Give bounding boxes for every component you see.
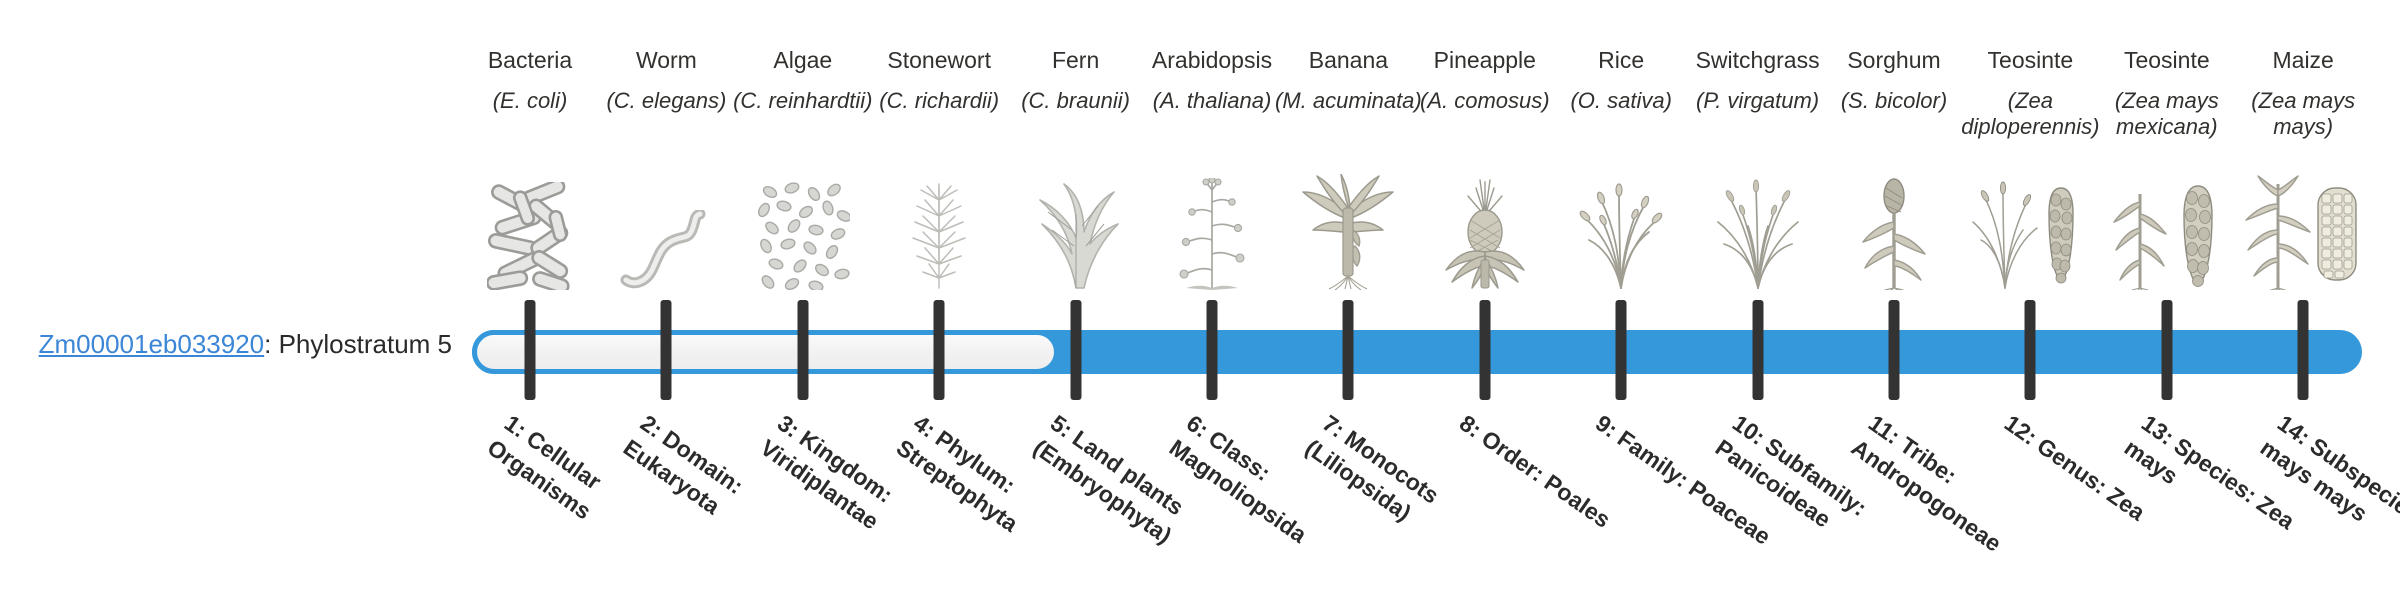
phylostratum-tick <box>1070 300 1081 400</box>
algae-icon <box>756 182 850 290</box>
phylostratum-tick <box>1616 300 1627 400</box>
bacteria-icon <box>455 168 605 290</box>
species-column: Maize(Zea mays mays) <box>2228 46 2378 140</box>
species-scientific-name: (C. richardii) <box>864 88 1014 114</box>
maize-icon <box>2242 174 2364 290</box>
fern-icon <box>1001 168 1151 290</box>
species-scientific-name: (S. bicolor) <box>1819 88 1969 114</box>
teosinte-mexicana-icon <box>2108 174 2226 290</box>
species-column: Bacteria(E. coli) <box>455 46 605 114</box>
species-column: Worm(C. elegans) <box>591 46 741 114</box>
species-common-name: Bacteria <box>455 46 605 74</box>
species-scientific-name: (C. reinhardtii) <box>728 88 878 114</box>
phylostratum-tick <box>1479 300 1490 400</box>
rank-name: Cellular Organisms <box>483 425 606 524</box>
phylostratum-value: Phylostratum 5 <box>279 329 452 359</box>
species-common-name: Stonewort <box>864 46 1014 74</box>
switchgrass-icon <box>1683 168 1833 290</box>
teosinte-diplo-icon <box>1955 168 2105 290</box>
rank-name: Order: Poales <box>1477 425 1615 533</box>
species-column: Fern(C. braunii) <box>1001 46 1151 114</box>
species-scientific-name: (C. braunii) <box>1001 88 1151 114</box>
species-scientific-name: (A. thaliana) <box>1137 88 1287 114</box>
species-scientific-name: (Zea diploperennis) <box>1955 88 2105 140</box>
phylostratum-tick <box>797 300 808 400</box>
fern-icon <box>1028 180 1124 290</box>
species-common-name: Sorghum <box>1819 46 1969 74</box>
phylostratum-tick <box>525 300 536 400</box>
phylostratum-tick <box>2161 300 2172 400</box>
species-common-name: Teosinte <box>2092 46 2242 74</box>
algae-icon <box>728 168 878 290</box>
species-column: Pineapple(A. comosus) <box>1410 46 1560 114</box>
rice-icon <box>1575 178 1667 290</box>
species-scientific-name: (C. elegans) <box>591 88 741 114</box>
phylostratum-tick <box>1889 300 1900 400</box>
sorghum-icon <box>1857 178 1931 290</box>
phylostratum-tick <box>1752 300 1763 400</box>
teosinte-mexicana-icon <box>2092 168 2242 290</box>
species-common-name: Maize <box>2228 46 2378 74</box>
species-common-name: Rice <box>1546 46 1696 74</box>
rank-number: 12: <box>2000 410 2042 450</box>
species-scientific-name: (O. sativa) <box>1546 88 1696 114</box>
bacteria-icon <box>487 182 573 290</box>
species-column: Teosinte(Zea diploperennis) <box>1955 46 2105 140</box>
pineapple-icon <box>1442 176 1528 290</box>
species-column: Banana(M. acuminata) <box>1273 46 1423 114</box>
species-scientific-name: (A. comosus) <box>1410 88 1560 114</box>
species-common-name: Teosinte <box>1955 46 2105 74</box>
phylostratum-bar-unfilled <box>472 330 1059 374</box>
species-common-name: Algae <box>728 46 878 74</box>
sorghum-icon <box>1819 168 1969 290</box>
stonewort-icon <box>864 168 1014 290</box>
pineapple-icon <box>1410 168 1560 290</box>
worm-icon <box>591 168 741 290</box>
species-common-name: Arabidopsis <box>1137 46 1287 74</box>
species-column: Sorghum(S. bicolor) <box>1819 46 1969 114</box>
species-common-name: Switchgrass <box>1683 46 1833 74</box>
species-column: Stonewort(C. richardii) <box>864 46 1014 114</box>
species-column: Algae(C. reinhardtii) <box>728 46 878 114</box>
species-common-name: Pineapple <box>1410 46 1560 74</box>
phylostratum-tick <box>934 300 945 400</box>
phylostratum-tick <box>661 300 672 400</box>
phylostratum-tick <box>2025 300 2036 400</box>
gene-phylostratum-label: Zm00001eb033920: Phylostratum 5 <box>0 328 452 360</box>
banana-icon <box>1301 174 1395 290</box>
switchgrass-icon <box>1712 178 1804 290</box>
species-column: Rice(O. sativa) <box>1546 46 1696 114</box>
species-column: Teosinte(Zea mays mexicana) <box>2092 46 2242 140</box>
phylostratigraphy-figure: Zm00001eb033920: Phylostratum 5 Bacteria… <box>0 0 2400 580</box>
teosinte-diplo-icon <box>1971 174 2089 290</box>
label-separator: : <box>264 329 278 359</box>
species-scientific-name: (E. coli) <box>455 88 605 114</box>
species-scientific-name: (P. virgatum) <box>1683 88 1833 114</box>
rice-icon <box>1546 168 1696 290</box>
arabidopsis-icon <box>1172 178 1252 290</box>
gene-id-link[interactable]: Zm00001eb033920 <box>39 329 265 359</box>
species-common-name: Fern <box>1001 46 1151 74</box>
species-common-name: Worm <box>591 46 741 74</box>
phylostratum-tick <box>1207 300 1218 400</box>
maize-icon <box>2228 168 2378 290</box>
worm-icon <box>620 210 712 290</box>
species-column: Switchgrass(P. virgatum) <box>1683 46 1833 114</box>
arabidopsis-icon <box>1137 168 1287 290</box>
banana-icon <box>1273 168 1423 290</box>
stonewort-icon <box>897 182 981 290</box>
species-scientific-name: (M. acuminata) <box>1273 88 1423 114</box>
species-scientific-name: (Zea mays mays) <box>2228 88 2378 140</box>
species-column: Arabidopsis(A. thaliana) <box>1137 46 1287 114</box>
species-scientific-name: (Zea mays mexicana) <box>2092 88 2242 140</box>
species-common-name: Banana <box>1273 46 1423 74</box>
phylostratum-tick <box>1343 300 1354 400</box>
phylostratum-tick <box>2298 300 2309 400</box>
